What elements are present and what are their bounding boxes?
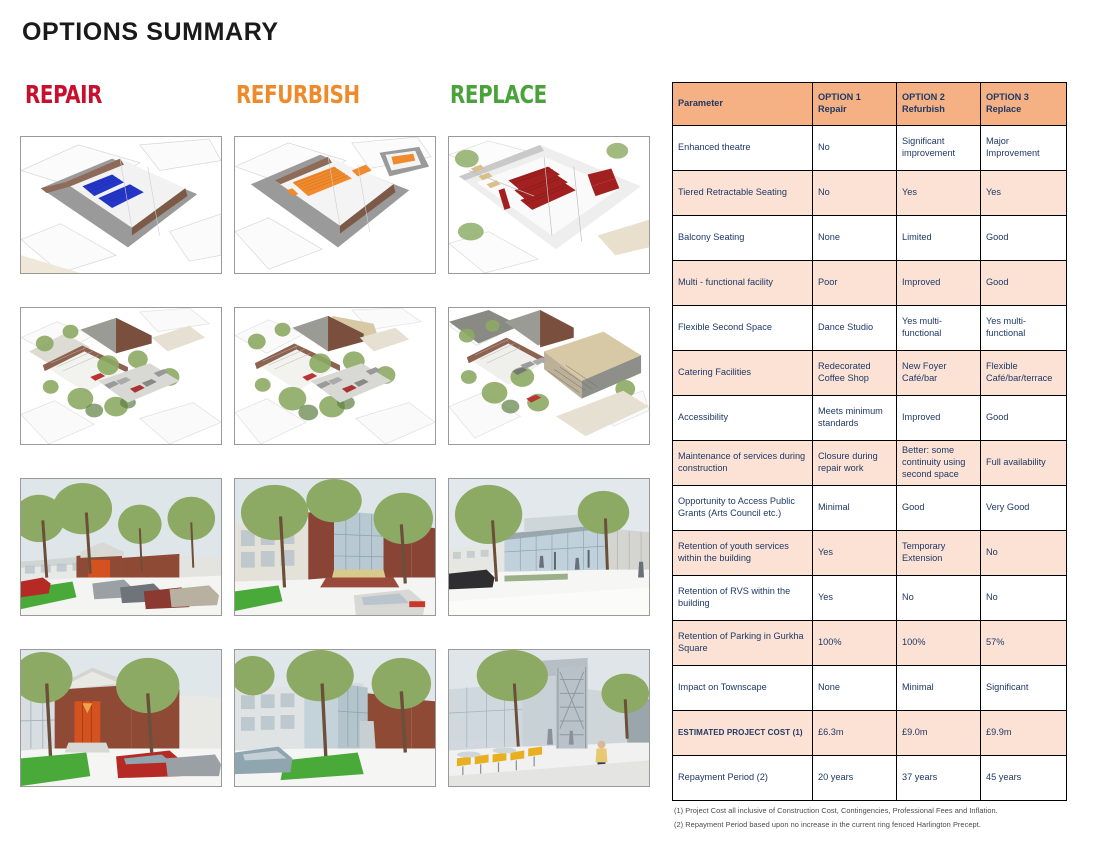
cell-option-3: Very Good	[981, 486, 1067, 531]
cell-option-3: 45 years	[981, 756, 1067, 801]
header-option-1: OPTION 1 Repair	[813, 83, 897, 126]
cell-option-3: Good	[981, 261, 1067, 306]
cell-option-2: Improved	[897, 396, 981, 441]
table-row: Retention of Parking in Gurkha Square100…	[673, 621, 1067, 666]
cell-option-3: Major Improvement	[981, 126, 1067, 171]
table-row: Enhanced theatreNoSignificant improvemen…	[673, 126, 1067, 171]
comparison-table: Parameter OPTION 1 Repair OPTION 2 Refur…	[672, 82, 1067, 801]
render-replace-entrance-view	[448, 649, 650, 787]
cell-option-1: No	[813, 126, 897, 171]
table-row: Flexible Second SpaceDance StudioYes mul…	[673, 306, 1067, 351]
cell-option-1: No	[813, 171, 897, 216]
cell-option-1: Poor	[813, 261, 897, 306]
cell-parameter: ESTIMATED PROJECT COST (1)	[673, 711, 813, 756]
cell-option-1: Dance Studio	[813, 306, 897, 351]
cell-parameter: Impact on Townscape	[673, 666, 813, 711]
footnotes: (1) Project Cost all inclusive of Constr…	[674, 806, 1074, 834]
cell-option-2: Improved	[897, 261, 981, 306]
table-row: Tiered Retractable SeatingNoYesYes	[673, 171, 1067, 216]
cell-option-3: Good	[981, 396, 1067, 441]
cell-option-2: Yes multi-functional	[897, 306, 981, 351]
cell-option-1: 20 years	[813, 756, 897, 801]
table-row: Impact on TownscapeNoneMinimalSignifican…	[673, 666, 1067, 711]
cell-option-2: Better: some continuity using second spa…	[897, 441, 981, 486]
cell-option-3: £9.9m	[981, 711, 1067, 756]
cell-option-1: Yes	[813, 531, 897, 576]
table-row: AccessibilityMeets minimum standardsImpr…	[673, 396, 1067, 441]
header-parameter: Parameter	[673, 83, 813, 126]
cell-parameter: Tiered Retractable Seating	[673, 171, 813, 216]
cell-option-3: Yes multi-functional	[981, 306, 1067, 351]
render-replace-theatre-plan	[448, 136, 650, 274]
cell-parameter: Retention of Parking in Gurkha Square	[673, 621, 813, 666]
cell-option-3: Good	[981, 216, 1067, 261]
cell-option-3: Significant	[981, 666, 1067, 711]
table-row: Balcony SeatingNoneLimitedGood	[673, 216, 1067, 261]
render-repair-aerial-site	[20, 307, 222, 445]
render-replace-aerial-site	[448, 307, 650, 445]
render-image-grid	[20, 136, 660, 820]
cell-parameter: Enhanced theatre	[673, 126, 813, 171]
cell-parameter: Maintenance of services during construct…	[673, 441, 813, 486]
cell-option-1: Yes	[813, 576, 897, 621]
cell-parameter: Multi - functional facility	[673, 261, 813, 306]
table-body: Enhanced theatreNoSignificant improvemen…	[673, 126, 1067, 801]
cell-parameter: Opportunity to Access Public Grants (Art…	[673, 486, 813, 531]
render-repair-theatre-plan	[20, 136, 222, 274]
cell-option-3: Flexible Café/bar/terrace	[981, 351, 1067, 396]
cell-parameter: Repayment Period (2)	[673, 756, 813, 801]
cell-parameter: Accessibility	[673, 396, 813, 441]
cell-parameter: Retention of youth services within the b…	[673, 531, 813, 576]
cell-option-1: Meets minimum standards	[813, 396, 897, 441]
cell-option-1: Redecorated Coffee Shop	[813, 351, 897, 396]
table-row: Catering FacilitiesRedecorated Coffee Sh…	[673, 351, 1067, 396]
table-row: Maintenance of services during construct…	[673, 441, 1067, 486]
cell-parameter: Balcony Seating	[673, 216, 813, 261]
table-header-row: Parameter OPTION 1 Repair OPTION 2 Refur…	[673, 83, 1067, 126]
cell-option-2: No	[897, 576, 981, 621]
render-refurbish-street-view	[234, 478, 436, 616]
option-heading-refurbish: REFURBISH	[236, 80, 360, 109]
cell-parameter: Flexible Second Space	[673, 306, 813, 351]
cell-option-1: Closure during repair work	[813, 441, 897, 486]
cell-option-3: Full availability	[981, 441, 1067, 486]
footnote-1: (1) Project Cost all inclusive of Constr…	[674, 806, 1074, 815]
render-replace-street-view	[448, 478, 650, 616]
render-row-aerial-site	[20, 307, 660, 445]
render-repair-street-view	[20, 478, 222, 616]
cell-option-3: Yes	[981, 171, 1067, 216]
cell-option-2: Significant improvement	[897, 126, 981, 171]
header-option-2: OPTION 2 Refurbish	[897, 83, 981, 126]
header-option-3: OPTION 3 Replace	[981, 83, 1067, 126]
render-repair-entrance-view	[20, 649, 222, 787]
table-row: Retention of RVS within the buildingYesN…	[673, 576, 1067, 621]
cell-option-1: None	[813, 666, 897, 711]
cell-option-2: 37 years	[897, 756, 981, 801]
table-row: Retention of youth services within the b…	[673, 531, 1067, 576]
table-row: Repayment Period (2)20 years37 years45 y…	[673, 756, 1067, 801]
option-heading-repair: REPAIR	[25, 80, 102, 109]
options-comparison-table: Parameter OPTION 1 Repair OPTION 2 Refur…	[672, 82, 1066, 801]
cell-option-3: No	[981, 576, 1067, 621]
cell-option-3: No	[981, 531, 1067, 576]
cell-option-1: None	[813, 216, 897, 261]
cell-parameter: Catering Facilities	[673, 351, 813, 396]
cell-option-3: 57%	[981, 621, 1067, 666]
render-row-street-views	[20, 478, 660, 616]
cell-option-1: £6.3m	[813, 711, 897, 756]
cell-option-2: Minimal	[897, 666, 981, 711]
cell-option-2: £9.0m	[897, 711, 981, 756]
table-row: Opportunity to Access Public Grants (Art…	[673, 486, 1067, 531]
render-refurbish-theatre-plan	[234, 136, 436, 274]
table-row: Multi - functional facilityPoorImprovedG…	[673, 261, 1067, 306]
option-heading-replace: REPLACE	[450, 80, 547, 109]
render-row-theatre-plans	[20, 136, 660, 274]
render-refurbish-aerial-site	[234, 307, 436, 445]
cell-option-1: 100%	[813, 621, 897, 666]
cell-option-2: Yes	[897, 171, 981, 216]
cell-option-2: 100%	[897, 621, 981, 666]
footnote-2: (2) Repayment Period based upon no incre…	[674, 820, 1074, 829]
cell-parameter: Retention of RVS within the building	[673, 576, 813, 621]
table-row: ESTIMATED PROJECT COST (1)£6.3m£9.0m£9.9…	[673, 711, 1067, 756]
cell-option-2: Limited	[897, 216, 981, 261]
cell-option-2: New Foyer Café/bar	[897, 351, 981, 396]
render-row-entrance-views	[20, 649, 660, 787]
page-title: OPTIONS SUMMARY	[22, 18, 279, 47]
cell-option-2: Temporary Extension	[897, 531, 981, 576]
cell-option-1: Minimal	[813, 486, 897, 531]
render-refurbish-entrance-view	[234, 649, 436, 787]
cell-option-2: Good	[897, 486, 981, 531]
